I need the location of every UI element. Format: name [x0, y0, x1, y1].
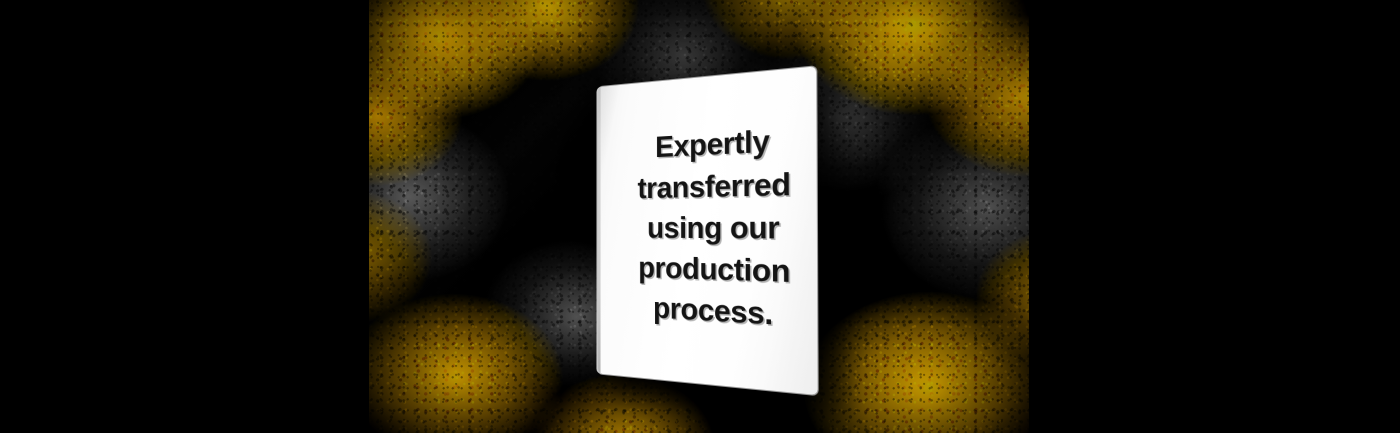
- sign-panel: Expertly transferred using our productio…: [598, 66, 818, 395]
- sign-text-line-2: transferred: [627, 163, 804, 208]
- letterbox-bar-right: [1029, 0, 1400, 433]
- scene-stage: Expertly transferred using our productio…: [0, 0, 1400, 433]
- letterbox-bar-left: [0, 0, 369, 433]
- sign-text-line-3: using our: [627, 207, 804, 250]
- sign-text-block: Expertly transferred using our productio…: [598, 118, 817, 339]
- sign-text-line-1: Expertly: [627, 119, 804, 169]
- sign-text-line-5: process.: [627, 288, 804, 338]
- sign-perspective-wrapper: Expertly transferred using our productio…: [369, 0, 1029, 433]
- background-photo: Expertly transferred using our productio…: [369, 0, 1029, 433]
- sign-text-line-4: production: [627, 248, 804, 293]
